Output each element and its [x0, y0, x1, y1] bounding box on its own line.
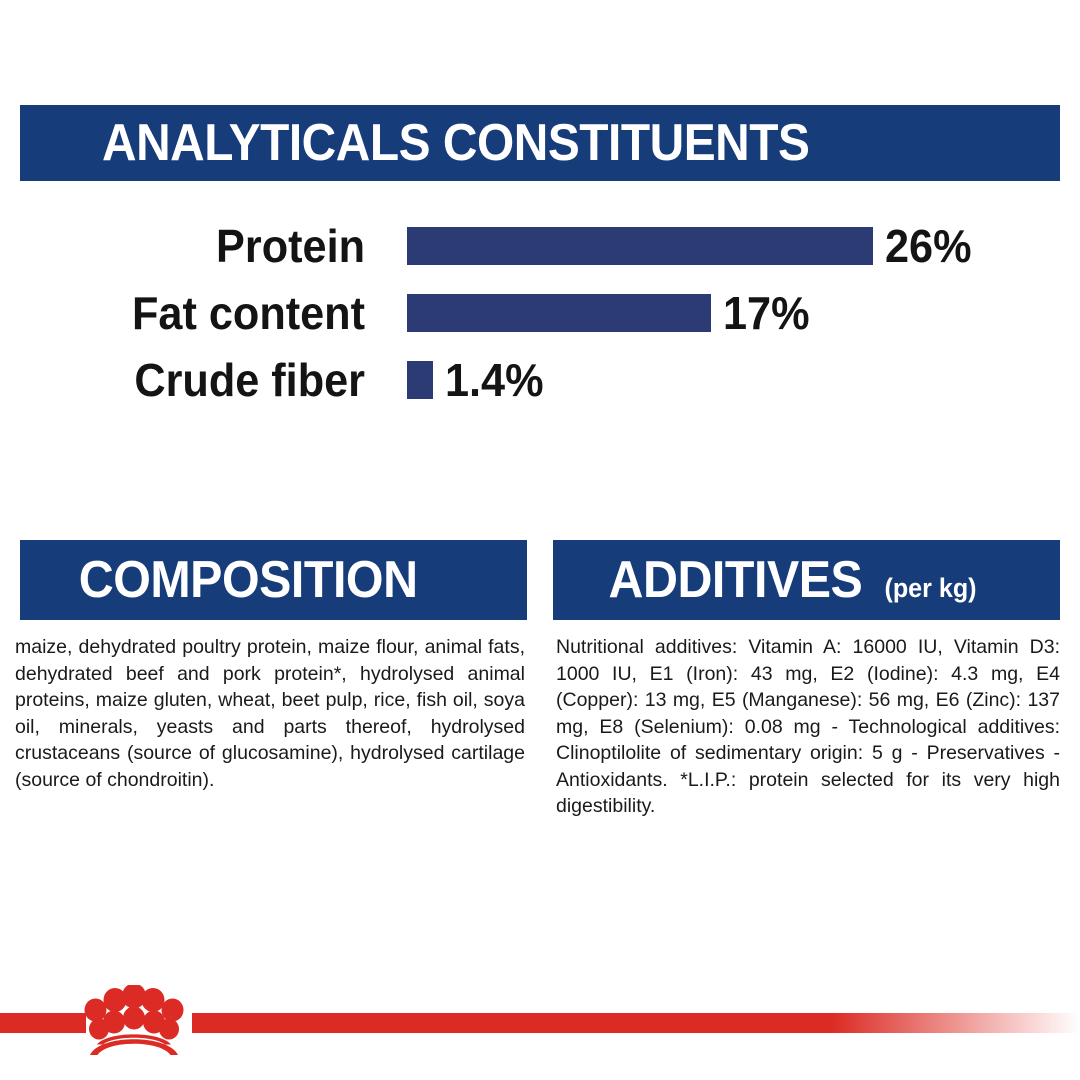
chart-track-fat-content: 17% — [365, 290, 1080, 336]
chart-value-crude-fiber: 1.4% — [445, 357, 544, 403]
analyticals-constituents-title: ANALYTICALS CONSTITUENTS — [102, 113, 809, 173]
additives-panel: ADDITIVES (per kg) Nutritional additives… — [553, 540, 1060, 820]
chart-row-crude-fiber: Crude fiber 1.4% — [0, 347, 1080, 413]
composition-header-inner: COMPOSITION — [66, 550, 430, 610]
chart-bar-fat-content — [407, 294, 711, 332]
chart-bar-protein — [407, 227, 873, 265]
footer-rule-right — [192, 1013, 1080, 1033]
composition-body-text: maize, dehydrated poultry protein, maize… — [15, 634, 527, 793]
chart-track-protein: 26% — [365, 223, 1080, 269]
chart-value-protein: 26% — [885, 223, 972, 269]
chart-label-protein: Protein — [22, 223, 365, 269]
composition-header: COMPOSITION — [20, 540, 527, 620]
additives-header: ADDITIVES (per kg) — [553, 540, 1060, 620]
additives-body-text: Nutritional additives: Vitamin A: 16000 … — [556, 634, 1060, 820]
composition-title: COMPOSITION — [79, 550, 418, 610]
chart-label-fat-content: Fat content — [22, 290, 365, 336]
analyticals-constituents-header: ANALYTICALS CONSTITUENTS — [20, 105, 1060, 181]
chart-row-protein: Protein 26% — [0, 213, 1080, 279]
chart-track-crude-fiber: 1.4% — [365, 357, 1080, 403]
royal-canin-crown-icon — [78, 985, 190, 1057]
chart-value-fat-content: 17% — [723, 290, 810, 336]
analyticals-bar-chart: Protein 26% Fat content 17% Crude fiber … — [0, 213, 1080, 414]
chart-row-fat-content: Fat content 17% — [0, 280, 1080, 346]
additives-title: ADDITIVES — [609, 550, 863, 610]
info-panels: COMPOSITION maize, dehydrated poultry pr… — [20, 540, 1064, 820]
footer-rule-left — [0, 1013, 86, 1033]
composition-panel: COMPOSITION maize, dehydrated poultry pr… — [20, 540, 527, 820]
additives-header-inner: ADDITIVES (per kg) — [599, 550, 980, 610]
chart-bar-crude-fiber — [407, 361, 433, 399]
additives-title-suffix: (per kg) — [884, 573, 976, 604]
chart-label-crude-fiber: Crude fiber — [22, 357, 365, 403]
